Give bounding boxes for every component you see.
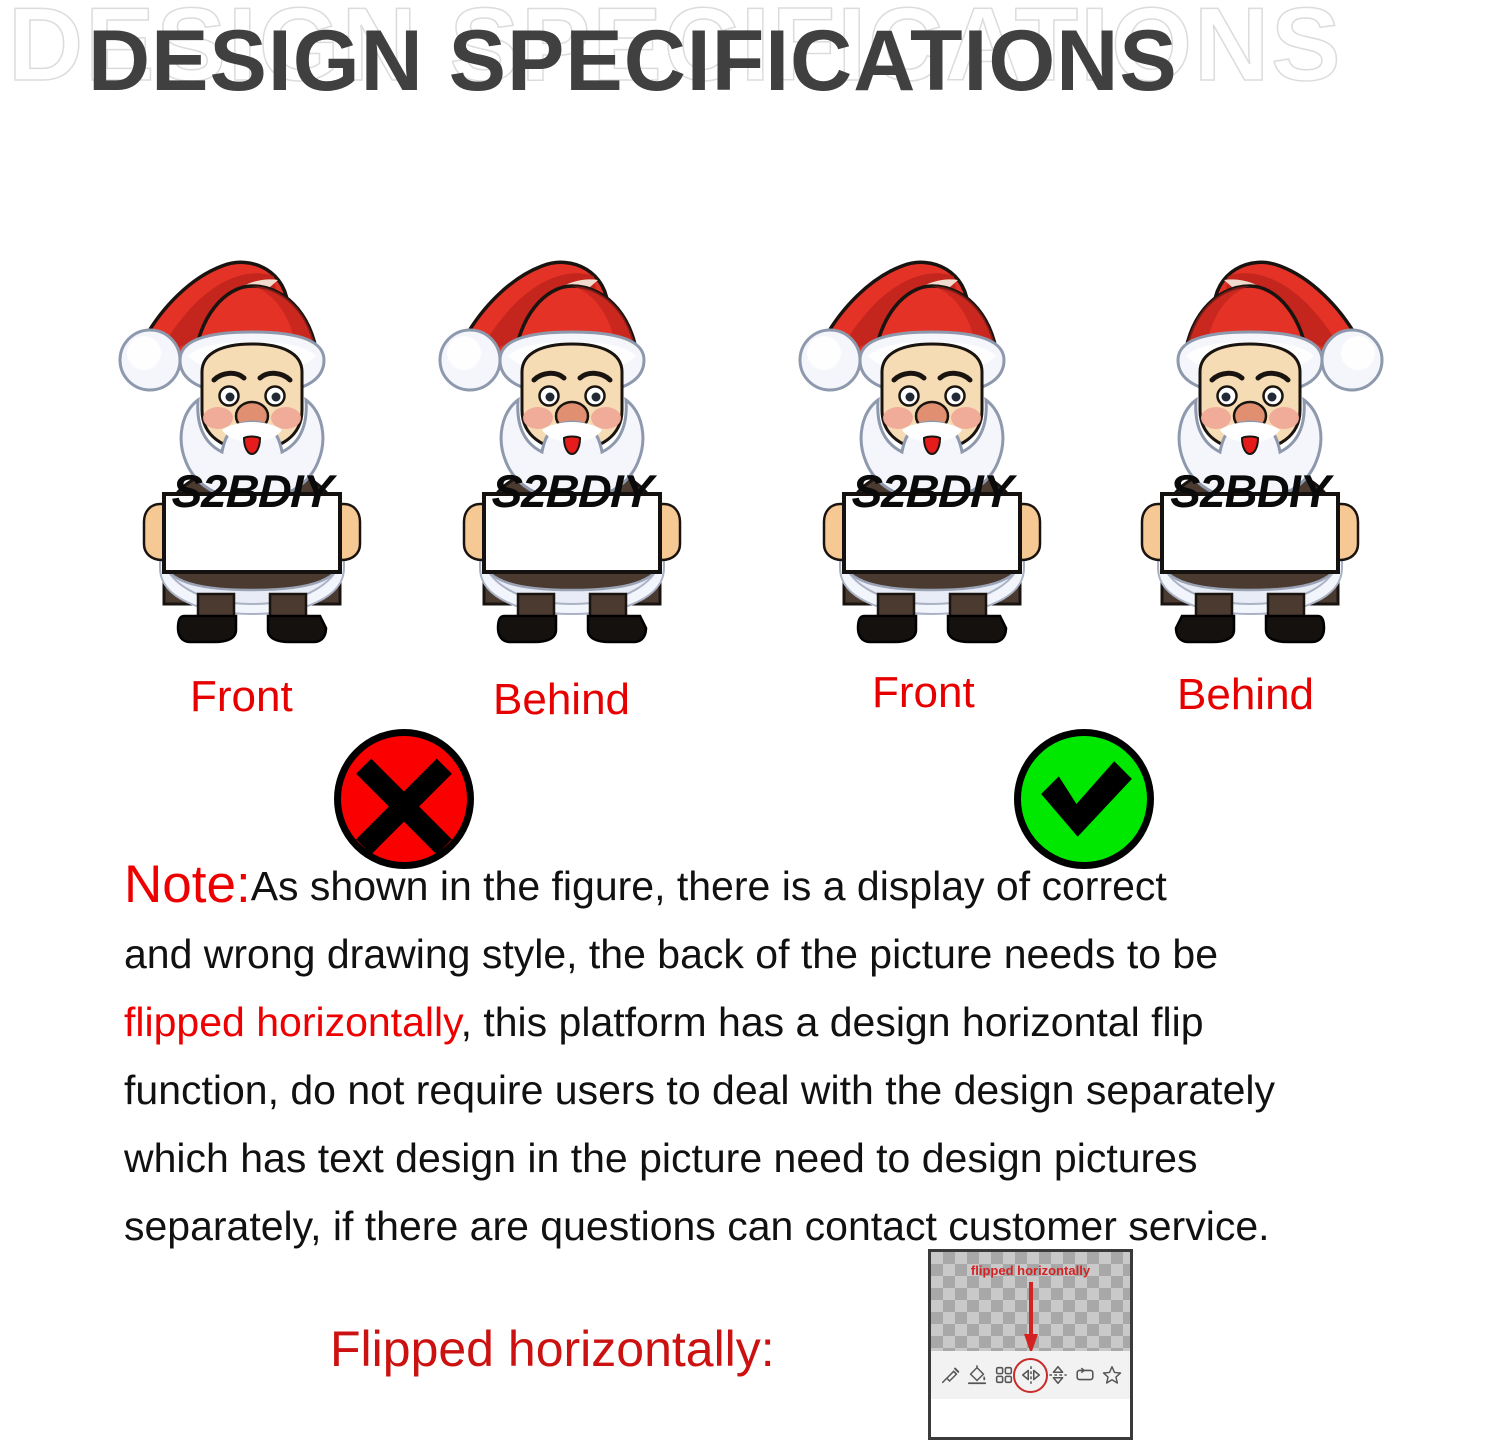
page-title: DESIGN SPECIFICATIONS (88, 12, 1178, 111)
santa-label-1: Front (190, 672, 293, 722)
santa-label-2: Behind (493, 675, 630, 725)
santa-figure-1: S2BDIY (102, 232, 402, 652)
santa-label-3: Front (872, 668, 975, 718)
note-line-5: which has text design in the picture nee… (124, 1124, 1444, 1192)
editor-toolbar[interactable] (931, 1351, 1130, 1399)
tool-slot-brush[interactable] (938, 1364, 961, 1387)
note-line-6: separately, if there are questions can c… (124, 1192, 1444, 1260)
tool-slot-loop[interactable] (1073, 1364, 1096, 1387)
tool-slot-flip-horizontal[interactable] (1019, 1364, 1042, 1387)
check-icon (1021, 736, 1147, 862)
note-emphasis-flipped: flipped horizontally (124, 999, 461, 1045)
cross-icon (341, 736, 467, 862)
santa-illustration (422, 232, 722, 652)
note-label: Note: (124, 855, 251, 914)
star-icon[interactable] (1101, 1364, 1123, 1386)
down-arrow-icon (1024, 1282, 1038, 1354)
tool-slot-star[interactable] (1100, 1364, 1123, 1387)
santa-figure-3: S2BDIY (782, 232, 1082, 652)
selected-tool-highlight (1013, 1358, 1048, 1393)
flipped-horizontally-label: Flipped horizontally: (330, 1320, 775, 1378)
note-line-4: function, do not require users to deal w… (124, 1056, 1444, 1124)
tool-slot-paint-bucket[interactable] (965, 1364, 988, 1387)
status-badge-wrong (334, 729, 474, 869)
note-line-1: Note:As shown in the figure, there is a … (124, 852, 1444, 920)
paint-bucket-icon[interactable] (966, 1364, 988, 1386)
page-title-area: DESIGN SPECIFICATIONS DESIGN SPECIFICATI… (0, 0, 1500, 130)
note-line-3: flipped horizontally, this platform has … (124, 988, 1444, 1056)
editor-widget-screenshot: flipped horizontally (928, 1249, 1133, 1440)
note-line-2: and wrong drawing style, the back of the… (124, 920, 1444, 988)
canvas-transparency-area: flipped horizontally (931, 1252, 1130, 1351)
note-line-3-rest: , this platform has a design horizontal … (461, 999, 1204, 1045)
brush-icon[interactable] (939, 1364, 961, 1386)
santa-label-4: Behind (1177, 670, 1314, 720)
santa-comparison-row: S2BDIY (0, 232, 1500, 662)
santa-illustration (782, 232, 1082, 652)
santa-figure-4: S2BDIY (1100, 232, 1400, 652)
note-block: Note:As shown in the figure, there is a … (124, 852, 1444, 1260)
loop-icon[interactable] (1074, 1364, 1096, 1386)
santa-illustration (102, 232, 402, 652)
tool-slot-grid[interactable] (992, 1364, 1015, 1387)
flip-vertical-icon[interactable] (1047, 1364, 1069, 1386)
tool-slot-flip-vertical[interactable] (1046, 1364, 1069, 1387)
santa-figure-2: S2BDIY (422, 232, 722, 652)
santa-illustration-mirrored (1100, 232, 1400, 652)
grid-icon[interactable] (993, 1364, 1015, 1386)
note-line-1-text: As shown in the figure, there is a displ… (251, 863, 1167, 909)
status-badge-correct (1014, 729, 1154, 869)
widget-caption: flipped horizontally (931, 1263, 1130, 1278)
widget-blank-area (931, 1399, 1130, 1439)
